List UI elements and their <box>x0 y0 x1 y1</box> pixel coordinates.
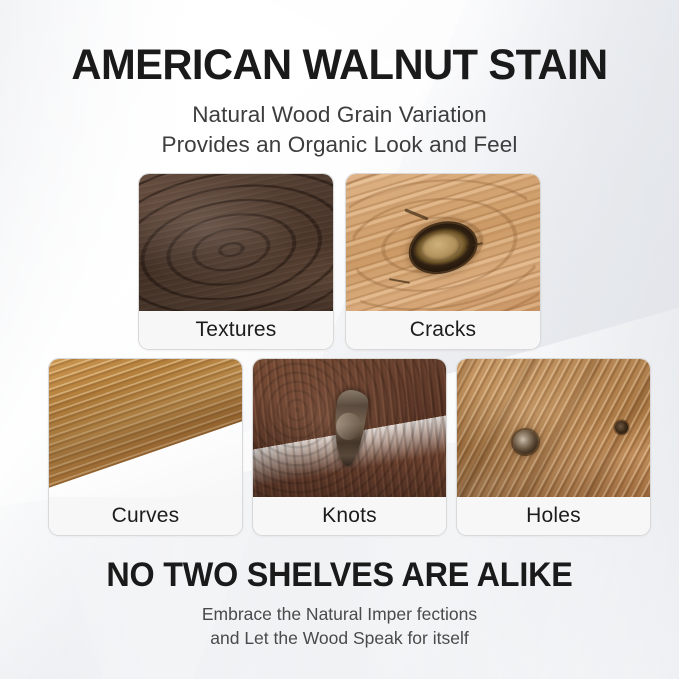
page-subtitle-line-1: Natural Wood Grain Variation <box>0 100 679 130</box>
feature-card-cracks[interactable]: Cracks <box>345 173 541 350</box>
feature-card-holes[interactable]: Holes <box>456 358 651 536</box>
feature-card-textures[interactable]: Textures <box>138 173 334 350</box>
footer-title: NO TWO SHELVES ARE ALIKE <box>17 558 662 592</box>
footer-subtitle-line-1: Embrace the Natural Imper fections <box>0 602 679 626</box>
feature-caption-textures: Textures <box>139 311 333 349</box>
feature-image-textures <box>139 174 333 313</box>
feature-image-cracks <box>346 174 540 313</box>
feature-image-holes <box>457 359 650 499</box>
infographic-canvas: AMERICAN WALNUT STAIN Natural Wood Grain… <box>0 0 679 679</box>
feature-card-curves[interactable]: Curves <box>48 358 243 536</box>
page-subtitle: Natural Wood Grain Variation Provides an… <box>0 100 679 160</box>
feature-caption-knots: Knots <box>253 497 446 535</box>
feature-card-knots[interactable]: Knots <box>252 358 447 536</box>
feature-caption-cracks: Cracks <box>346 311 540 349</box>
page-title: AMERICAN WALNUT STAIN <box>10 44 669 87</box>
page-subtitle-line-2: Provides an Organic Look and Feel <box>0 130 679 160</box>
feature-caption-holes: Holes <box>457 497 650 535</box>
feature-image-knots <box>253 359 446 499</box>
feature-image-curves <box>49 359 242 499</box>
footer-subtitle-line-2: and Let the Wood Speak for itself <box>0 626 679 650</box>
footer-subtitle: Embrace the Natural Imper fections and L… <box>0 602 679 650</box>
feature-caption-curves: Curves <box>49 497 242 535</box>
